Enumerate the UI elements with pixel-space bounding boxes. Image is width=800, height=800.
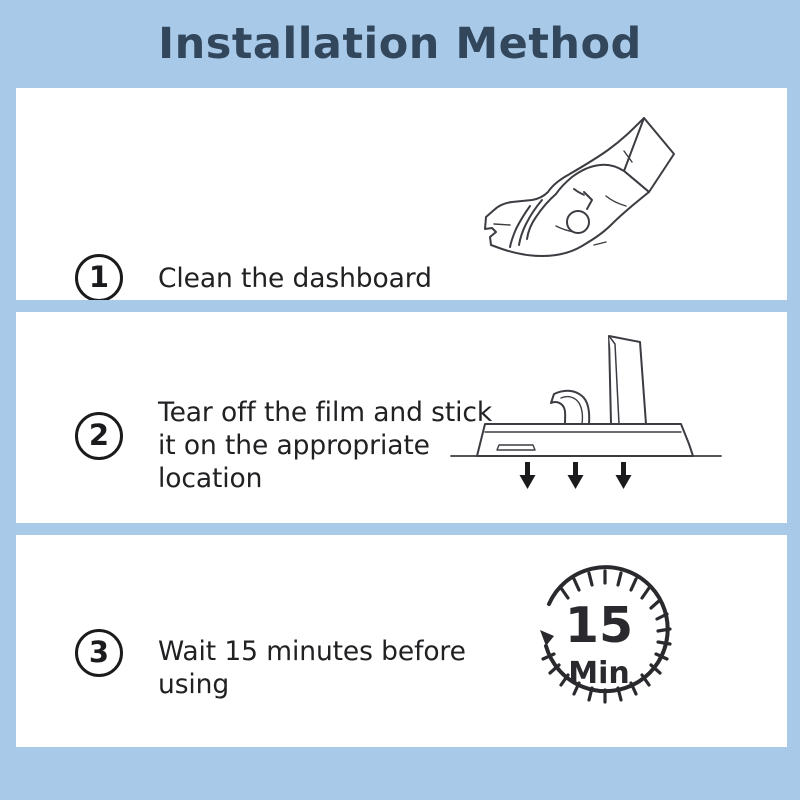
header: Installation Method [0, 0, 800, 88]
step-text-1: Clean the dashboard [158, 262, 488, 295]
timer-icon: 15 Min [521, 560, 686, 720]
step-number-label-3: 3 [89, 638, 109, 667]
step-number-label-2: 2 [89, 421, 109, 450]
step-number-badge-2: 2 [75, 412, 123, 460]
step-number-badge-1: 1 [75, 254, 123, 300]
timer-unit-label: Min [568, 656, 630, 691]
phone-mount-press-down-icon [441, 332, 731, 497]
page-title: Installation Method [158, 23, 642, 66]
steps-list: 1 Clean the dashboard [16, 88, 787, 747]
step-card-1: 1 Clean the dashboard [16, 88, 787, 300]
installation-method-infographic: Installation Method 1 Clean the dashboar… [0, 0, 800, 800]
timer-value-label: 15 [565, 597, 633, 654]
step-card-3: 3 Wait 15 minutes before using [16, 535, 787, 747]
step-number-label-1: 1 [89, 263, 109, 292]
hand-wiping-cloth-icon [456, 96, 716, 281]
step-text-3: Wait 15 minutes before using [158, 635, 508, 701]
step-card-2: 2 Tear off the film and stick it on the … [16, 312, 787, 523]
step-number-badge-3: 3 [75, 629, 123, 677]
